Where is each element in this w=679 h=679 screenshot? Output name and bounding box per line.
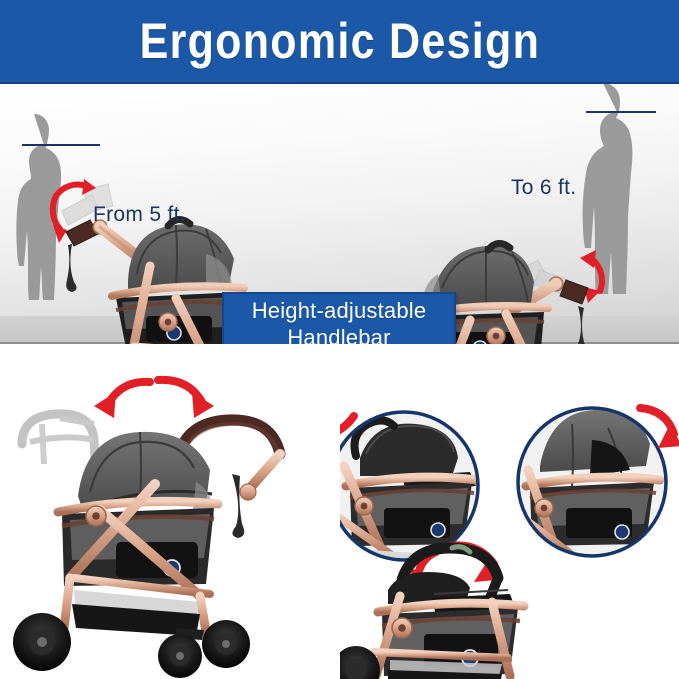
wrist-strap-bl <box>232 474 244 538</box>
height-rule-right <box>586 111 656 113</box>
to-height-label: To 6 ft. <box>511 176 576 200</box>
ghost-handlebar-back <box>22 414 96 476</box>
callout-height-adjustable: Height-adjustable Handlebar <box>222 292 456 344</box>
infographic-page: Ergonomic Design <box>0 0 679 679</box>
from-height-label: From 5 ft. <box>93 203 186 227</box>
open-canopy-illustration <box>340 346 679 679</box>
handle-grip-right <box>560 280 588 304</box>
wheel-bl-front-2 <box>202 620 250 668</box>
wrist-strap-right <box>575 306 585 344</box>
mesh-window-br <box>424 634 498 666</box>
reverse-arrow-left <box>94 382 150 418</box>
callout-height-line1: Height-adjustable <box>252 298 427 325</box>
wheel-bl-front <box>158 634 202 678</box>
panel-open-canopy: 3 ways to open canopy <box>340 346 679 679</box>
page-title: Ergonomic Design <box>139 12 540 70</box>
callout-height-line2: Handlebar <box>287 325 390 344</box>
stroller-main-br <box>340 545 524 679</box>
height-rule-left <box>22 144 100 146</box>
canopy-inset-top-right <box>514 402 674 564</box>
reverse-arrow-right <box>158 380 214 418</box>
reversible-handlebar-illustration <box>0 346 339 679</box>
wrist-strap-left <box>66 244 76 292</box>
panel-height-adjustable: From 5 ft. To 6 ft. Height-adjustable Ha… <box>0 84 679 344</box>
panel-reversible-handlebar: Reversible Handlebar <box>0 346 339 679</box>
header-banner: Ergonomic Design <box>0 0 679 84</box>
wheel-bl-rear <box>13 613 71 671</box>
